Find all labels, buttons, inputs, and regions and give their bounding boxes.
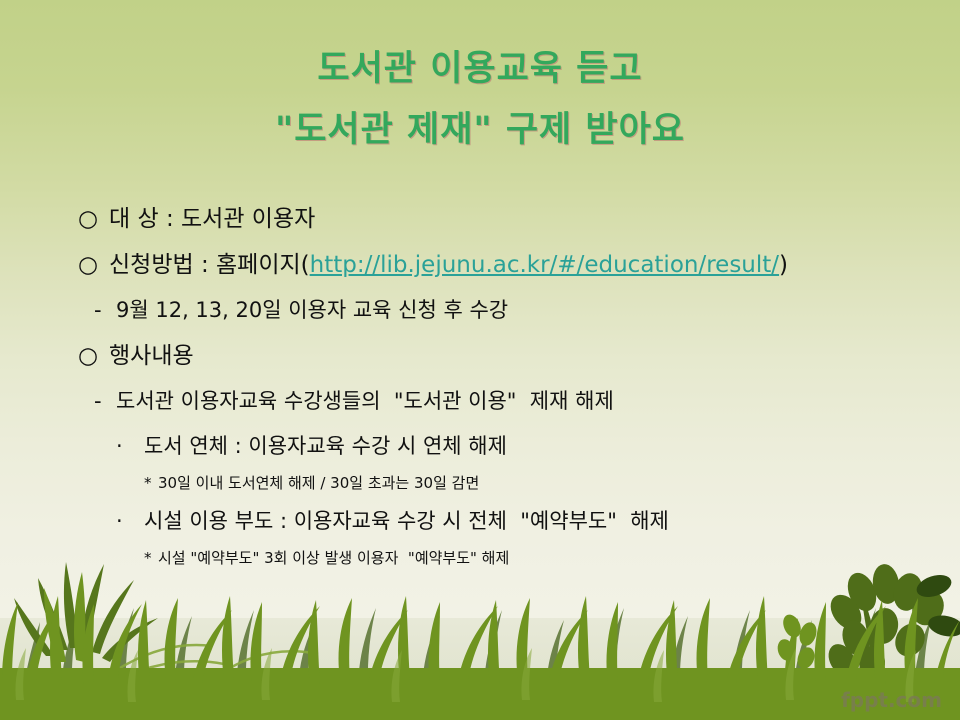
sub-bullet-text: 시설 이용 부도 : 이용자교육 수강 시 전체 "예약부도" 해제 [144,499,669,543]
circle-bullet-icon: ○ [78,196,109,242]
note-facility-noshow: * 시설 "예약부도" 3회 이상 발생 이용자 "예약부도" 해제 [78,543,948,574]
bullet-event-contents: ○ 행사내용 [78,333,948,379]
slide-title: 도서관 이용교육 듣고 "도서관 제재" 구제 받아요 [0,52,960,148]
asterisk-bullet-icon: * [144,543,158,574]
circle-bullet-icon: ○ [78,242,109,288]
title-line-1: 도서관 이용교육 듣고 [0,52,960,87]
note-overdue-books: * 30일 이내 도서연체 해제 / 30일 초과는 30일 감면 [78,468,948,499]
note-text: 시설 "예약부도" 3회 이상 발생 이용자 "예약부도" 해제 [158,543,509,574]
fppt-watermark: fppt.com [841,688,942,712]
bullet-text-prefix: 신청방법 : 홈페이지( [109,242,310,288]
asterisk-bullet-icon: * [144,468,158,499]
dash-bullet-icon: - [94,379,116,424]
sub-bullet-text: 9월 12, 13, 20일 이용자 교육 신청 후 수강 [116,288,508,333]
bullet-application-method: ○ 신청방법 : 홈페이지( http://lib.jejunu.ac.kr/#… [78,242,948,288]
bullet-target-audience: ○ 대 상 : 도서관 이용자 [78,196,948,242]
sub-bullet-schedule: - 9월 12, 13, 20일 이용자 교육 신청 후 수강 [78,288,948,333]
presentation-slide: 도서관 이용교육 듣고 "도서관 제재" 구제 받아요 ○ 대 상 : 도서관 … [0,0,960,720]
dot-bullet-icon: · [116,424,144,468]
sub-bullet-text: 도서관 이용자교육 수강생들의 "도서관 이용" 제재 해제 [116,379,614,424]
circle-bullet-icon: ○ [78,333,109,379]
sub-bullet-text: 도서 연체 : 이용자교육 수강 시 연체 해제 [144,424,507,468]
bullet-text: 대 상 : 도서관 이용자 [109,196,315,242]
dot-bullet-icon: · [116,499,144,543]
dash-bullet-icon: - [94,288,116,333]
slide-body: ○ 대 상 : 도서관 이용자 ○ 신청방법 : 홈페이지( http://li… [78,196,948,574]
note-text: 30일 이내 도서연체 해제 / 30일 초과는 30일 감면 [158,468,479,499]
sub-bullet-overdue-books: · 도서 연체 : 이용자교육 수강 시 연체 해제 [78,424,948,468]
sub-bullet-facility-noshow: · 시설 이용 부도 : 이용자교육 수강 시 전체 "예약부도" 해제 [78,499,948,543]
sub-bullet-sanction-release: - 도서관 이용자교육 수강생들의 "도서관 이용" 제재 해제 [78,379,948,424]
homepage-link[interactable]: http://lib.jejunu.ac.kr/#/education/resu… [310,242,779,288]
bullet-text-suffix: ) [779,242,788,288]
title-line-2: "도서관 제재" 구제 받아요 [0,113,960,148]
bullet-text: 행사내용 [109,333,194,379]
